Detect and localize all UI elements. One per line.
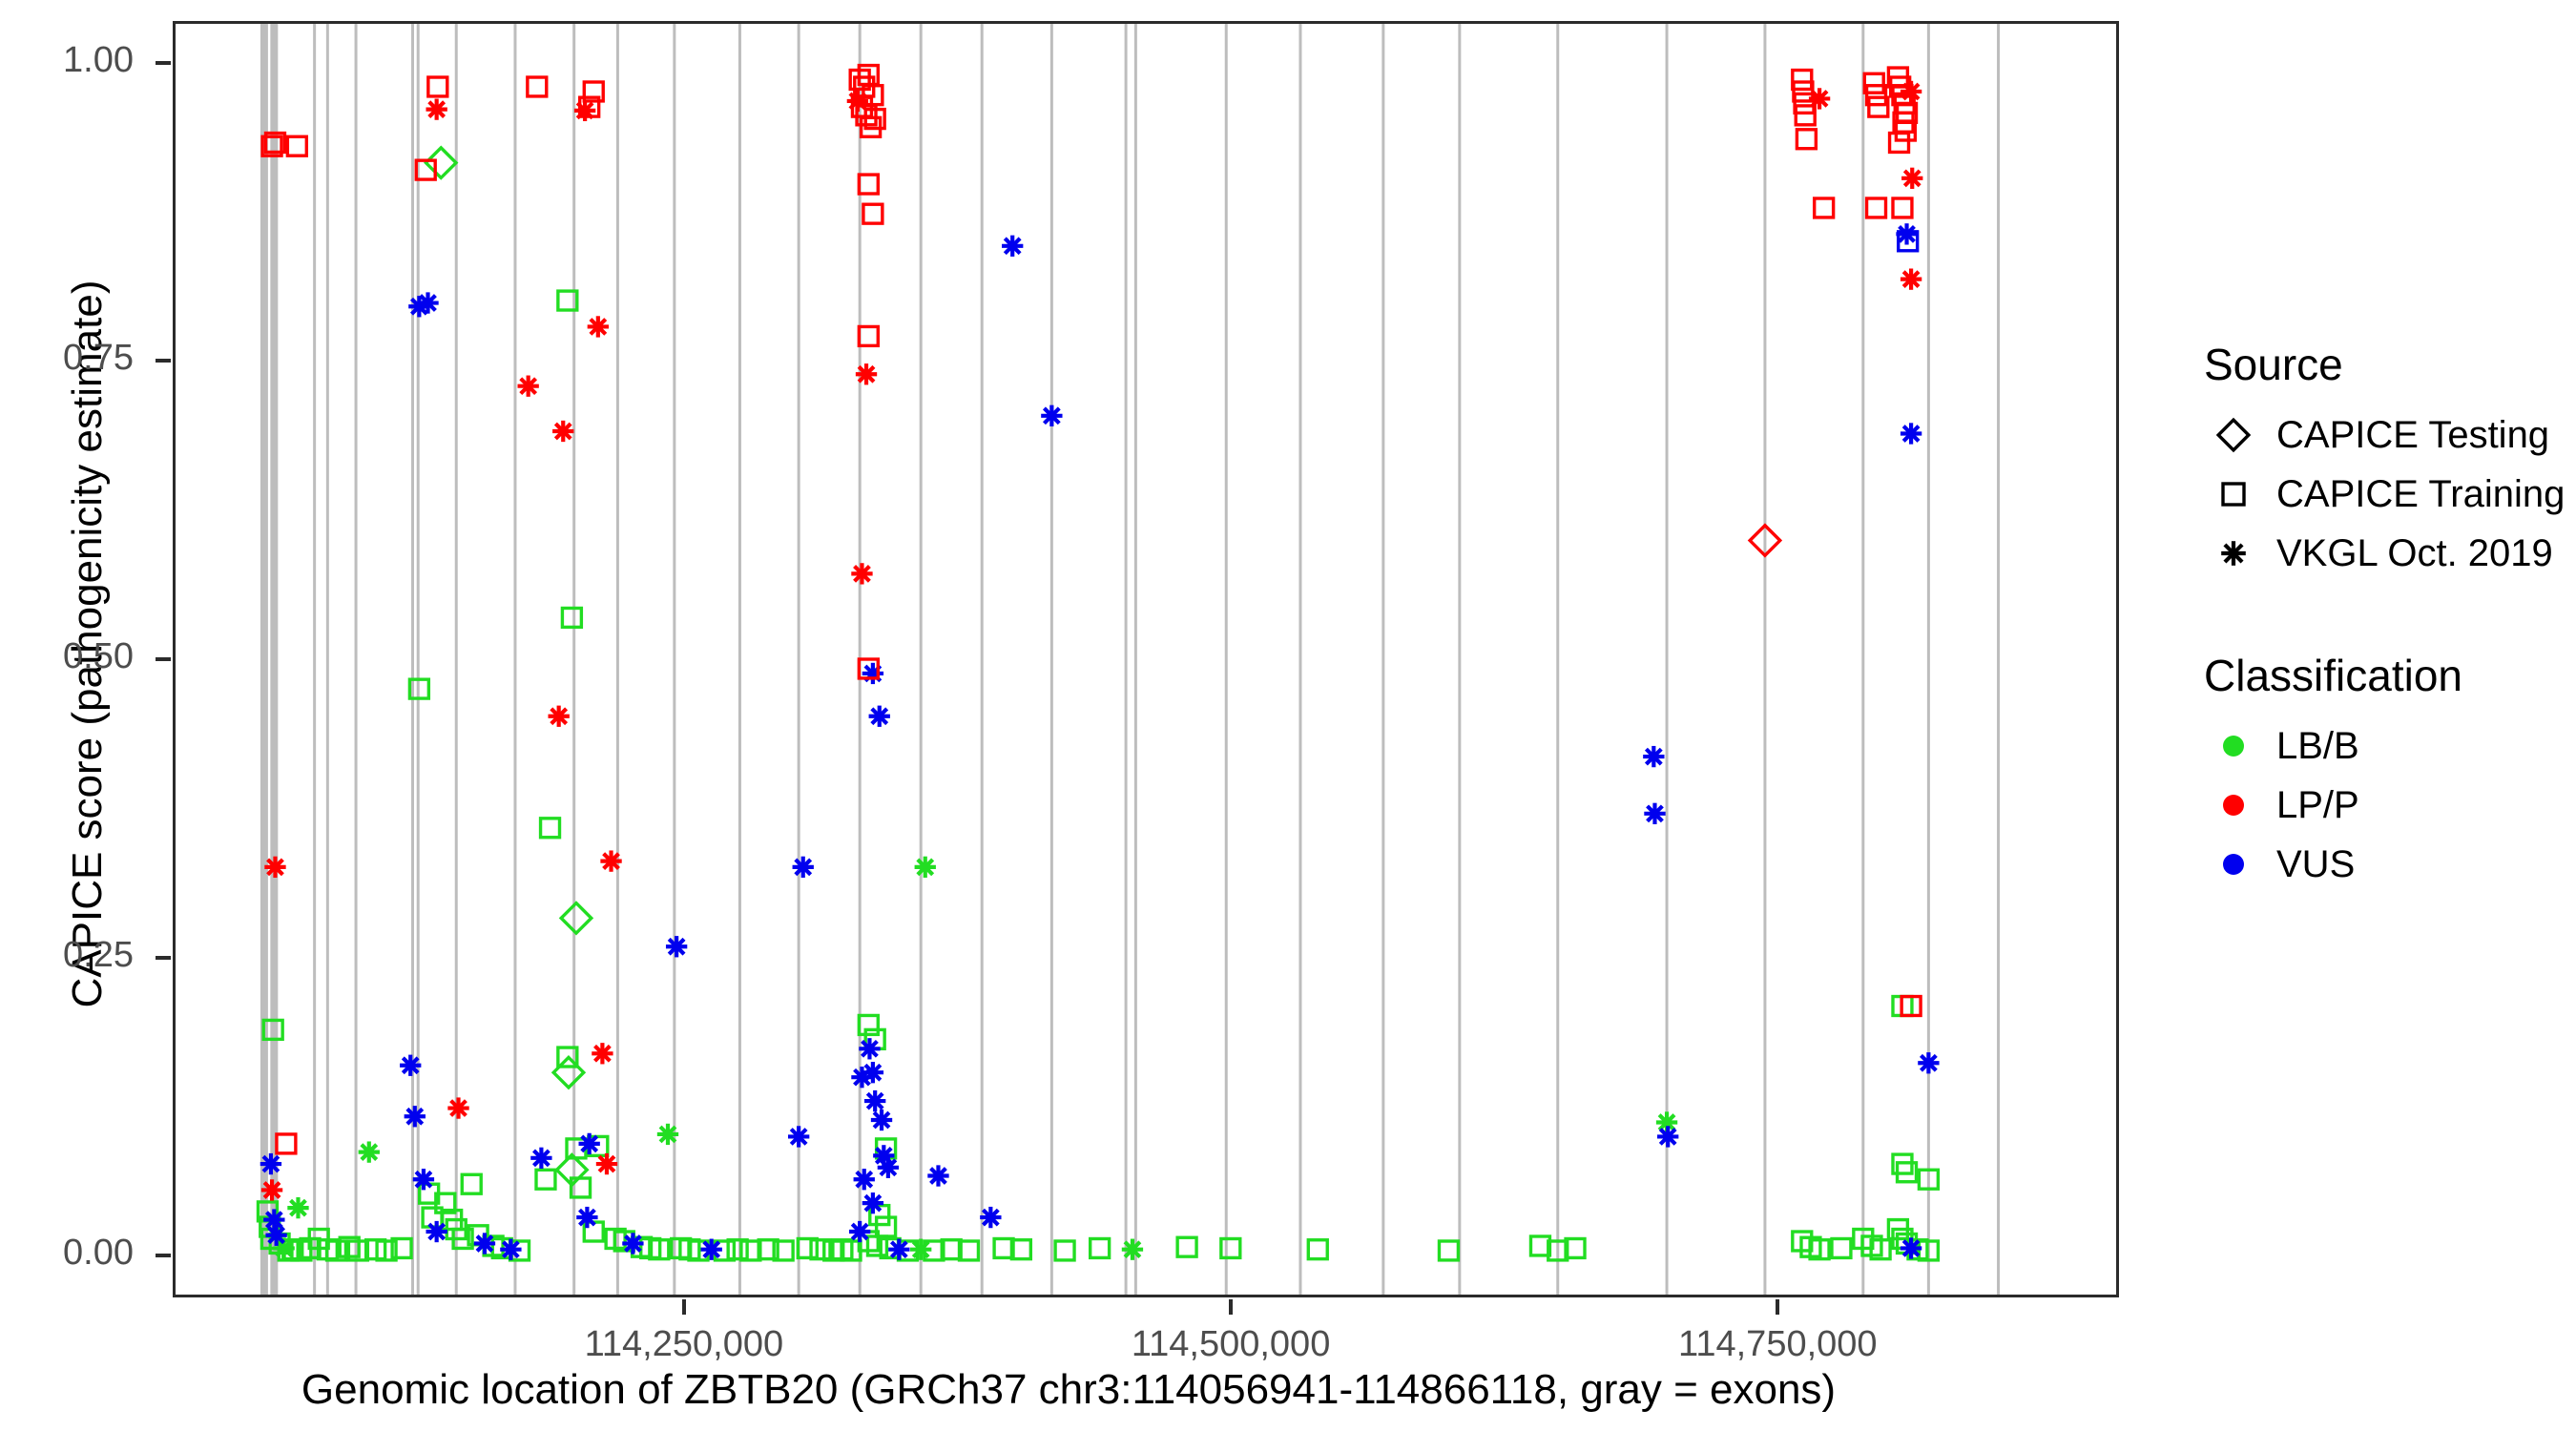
data-point — [536, 1170, 555, 1189]
exon-line — [260, 24, 268, 1295]
exon-line — [1997, 24, 2000, 1295]
data-point — [657, 1124, 678, 1145]
data-point — [980, 1207, 1001, 1228]
data-point — [413, 1169, 434, 1190]
exon-line — [417, 24, 420, 1295]
data-point — [588, 316, 609, 337]
data-point — [1644, 803, 1665, 824]
data-point — [518, 376, 539, 397]
exon-line — [1050, 24, 1053, 1295]
color-dot-icon — [2204, 776, 2263, 835]
exon-line — [673, 24, 675, 1295]
data-point — [851, 563, 872, 584]
data-point — [1055, 1241, 1074, 1260]
legend-group-source: CAPICE TestingCAPICE TrainingVKGL Oct. 2… — [2204, 405, 2566, 583]
scatter-plot-canvas — [176, 24, 2116, 1295]
legend-label: VUS — [2263, 843, 2355, 886]
data-point — [859, 1038, 880, 1059]
exon-line — [798, 24, 800, 1295]
legend-title-source: Source — [2204, 339, 2566, 390]
data-point — [811, 1240, 830, 1259]
exon-line — [326, 24, 329, 1295]
exon-line — [270, 24, 278, 1295]
x-tick-label: 114,750,000 — [1587, 1324, 1968, 1365]
exon-line — [738, 24, 741, 1295]
data-point — [287, 136, 306, 156]
exon-line — [1225, 24, 1228, 1295]
data-point — [359, 1141, 380, 1162]
data-point — [849, 1221, 870, 1242]
exon-line — [920, 24, 923, 1295]
data-point — [500, 1239, 521, 1260]
exon-line — [1556, 24, 1559, 1295]
data-point — [1177, 1237, 1196, 1256]
data-point — [528, 77, 547, 96]
legend-group-classification: LB/BLP/PVUS — [2204, 716, 2566, 894]
y-tick-mark — [156, 956, 171, 960]
y-tick-label: 0.00 — [0, 1233, 134, 1274]
exon-line — [1763, 24, 1766, 1295]
x-tick-mark — [682, 1299, 686, 1315]
data-point — [423, 1208, 442, 1227]
data-point — [579, 1133, 600, 1154]
data-point — [1793, 71, 1812, 90]
data-point — [862, 663, 883, 684]
legend-label: CAPICE Testing — [2263, 414, 2549, 457]
data-point — [666, 936, 687, 957]
data-point — [862, 1192, 883, 1213]
data-point — [701, 1239, 722, 1260]
data-point — [1439, 1241, 1458, 1260]
data-point — [1901, 423, 1922, 444]
exon-line — [1458, 24, 1461, 1295]
exon-line — [1927, 24, 1930, 1295]
y-tick-mark — [156, 1254, 171, 1257]
data-point — [856, 363, 877, 384]
data-point — [915, 857, 936, 878]
data-point — [426, 1221, 447, 1242]
data-point — [277, 1134, 296, 1153]
data-point — [1657, 1126, 1678, 1147]
data-point — [541, 819, 560, 838]
legend-item-source-2[interactable]: VKGL Oct. 2019 — [2204, 524, 2566, 583]
data-point — [878, 1157, 899, 1178]
legend-item-classification-1[interactable]: LP/P — [2204, 776, 2566, 835]
y-tick-label: 0.75 — [0, 338, 134, 379]
legend: Source CAPICE TestingCAPICE TrainingVKGL… — [2204, 339, 2566, 894]
exon-line — [1861, 24, 1864, 1295]
data-point — [793, 857, 814, 878]
data-point — [1122, 1239, 1143, 1260]
legend-item-source-1[interactable]: CAPICE Training — [2204, 465, 2566, 524]
x-tick-mark — [1776, 1299, 1779, 1315]
legend-title-classification: Classification — [2204, 650, 2566, 701]
data-point — [1041, 405, 1062, 426]
data-point — [859, 1015, 878, 1034]
color-dot-icon — [2204, 716, 2263, 776]
data-point — [798, 1238, 817, 1257]
data-point — [1221, 1238, 1240, 1257]
data-point — [265, 1225, 286, 1246]
data-point — [622, 1233, 643, 1254]
exon-line — [1666, 24, 1669, 1295]
data-point — [1002, 236, 1023, 257]
data-point — [863, 204, 883, 223]
asterisk-icon — [2204, 524, 2263, 583]
data-point — [854, 1169, 875, 1190]
data-point — [462, 1174, 481, 1193]
exon-line — [313, 24, 316, 1295]
exon-line — [411, 24, 414, 1295]
exon-line — [1125, 24, 1128, 1295]
data-point — [405, 1106, 426, 1127]
y-tick-label: 0.25 — [0, 935, 134, 976]
data-point — [474, 1233, 495, 1254]
data-point — [530, 1148, 551, 1169]
x-tick-label: 114,250,000 — [493, 1324, 875, 1365]
data-point — [596, 1153, 617, 1174]
data-point — [264, 857, 285, 878]
legend-label: LB/B — [2263, 725, 2359, 768]
data-point — [576, 1207, 597, 1228]
data-point — [400, 1055, 421, 1076]
legend-label: CAPICE Training — [2263, 473, 2565, 516]
square-icon — [2204, 465, 2263, 524]
data-point — [426, 98, 447, 119]
data-point — [859, 175, 878, 194]
y-tick-label: 0.50 — [0, 636, 134, 677]
data-point — [261, 1179, 282, 1200]
data-point — [1091, 1238, 1110, 1257]
legend-item-source-0[interactable]: CAPICE Testing — [2204, 405, 2566, 465]
legend-item-classification-0[interactable]: LB/B — [2204, 716, 2566, 776]
data-point — [1901, 81, 1922, 102]
data-point — [864, 1090, 885, 1111]
data-point — [600, 850, 621, 871]
exon-line — [1134, 24, 1137, 1295]
data-point — [428, 77, 447, 96]
data-point — [1890, 134, 1909, 153]
data-point — [1832, 1238, 1851, 1257]
legend-label: LP/P — [2263, 784, 2359, 827]
data-point — [1815, 198, 1834, 218]
x-tick-label: 114,500,000 — [1040, 1324, 1422, 1365]
data-point — [447, 1097, 468, 1118]
data-point — [549, 706, 570, 727]
chart-root: CAPICE score (pathogenicity estimate) 1.… — [0, 0, 2576, 1431]
data-point — [561, 903, 592, 934]
exon-line — [1298, 24, 1301, 1295]
data-point — [1901, 1237, 1922, 1258]
exon-line — [513, 24, 516, 1295]
data-point — [869, 706, 890, 727]
data-point — [426, 148, 456, 178]
data-point — [552, 421, 573, 442]
exon-line — [981, 24, 984, 1295]
data-point — [847, 91, 868, 112]
data-point — [1918, 1052, 1939, 1073]
data-point — [859, 326, 878, 345]
y-tick-mark — [156, 359, 171, 363]
exon-line — [616, 24, 619, 1295]
data-point — [417, 292, 438, 313]
data-point — [927, 1165, 948, 1186]
data-point — [1796, 106, 1815, 125]
data-point — [1893, 198, 1912, 218]
data-point — [788, 1126, 809, 1147]
x-tick-mark — [1229, 1299, 1233, 1315]
data-point — [287, 1197, 308, 1218]
x-axis-title: Genomic location of ZBTB20 (GRCh37 chr3:… — [0, 1366, 2137, 1414]
exon-line — [572, 24, 575, 1295]
y-tick-mark — [156, 657, 171, 661]
y-tick-label: 1.00 — [0, 40, 134, 81]
y-tick-mark — [156, 61, 171, 65]
plot-panel — [173, 21, 2119, 1297]
legend-item-classification-2[interactable]: VUS — [2204, 835, 2566, 894]
data-point — [260, 1153, 281, 1174]
data-point — [1867, 198, 1886, 218]
exon-line — [355, 24, 358, 1295]
data-point — [862, 1062, 883, 1083]
data-point — [871, 1110, 892, 1130]
data-point — [1308, 1240, 1327, 1259]
exon-line — [1381, 24, 1384, 1295]
data-point — [1901, 268, 1922, 289]
data-point — [562, 608, 581, 627]
legend-label: VKGL Oct. 2019 — [2263, 532, 2553, 575]
diamond-icon — [2204, 405, 2263, 465]
data-point — [728, 1240, 747, 1259]
data-point — [592, 1043, 613, 1064]
data-point — [888, 1239, 909, 1260]
data-point — [1901, 168, 1922, 189]
color-dot-icon — [2204, 835, 2263, 894]
data-point — [1797, 130, 1816, 149]
data-point — [1643, 746, 1664, 767]
data-point — [1809, 88, 1830, 109]
